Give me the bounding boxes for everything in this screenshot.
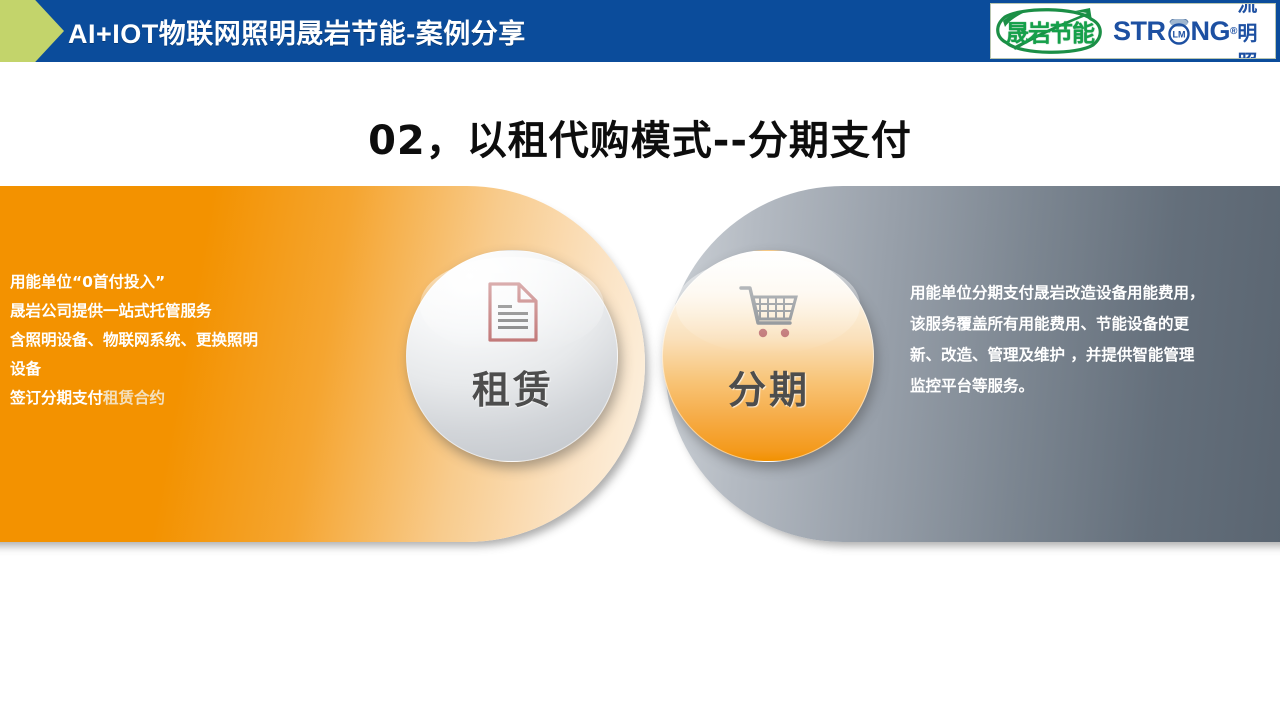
right-line-2: 新、改造、管理及维护 ，并提供智能管理 bbox=[910, 340, 1270, 371]
document-icon bbox=[486, 281, 540, 343]
logo-cn-brand: 晟岩节能 bbox=[1006, 14, 1094, 48]
header-title: AI+IOT物联网照明晟岩节能-案例分享 bbox=[68, 0, 526, 62]
logo-en-brand: STRLMNG® 强流明照明 bbox=[1113, 3, 1275, 59]
shopping-cart-icon bbox=[738, 281, 800, 343]
logo-strong-part2: NG bbox=[1191, 16, 1231, 47]
logo-cn-sub: 强流明照明 bbox=[1237, 3, 1275, 59]
right-line-1: 该服务覆盖所有用能费用、节能设备的更 bbox=[910, 309, 1270, 340]
right-panel-text: 用能单位分期支付晟岩改造设备用能费用， 该服务覆盖所有用能费用、节能设备的更 新… bbox=[910, 278, 1270, 402]
lease-bubble-inner: 租赁 bbox=[407, 251, 619, 463]
left-bullet-2: 含照明设备、物联网系统、更换照明 bbox=[10, 326, 340, 355]
left-bullet-4-white: 签订分期支付 bbox=[10, 389, 103, 407]
logo-strong-part1: STR bbox=[1113, 16, 1166, 47]
logo-o-icon: LM bbox=[1166, 19, 1191, 44]
page-title: 02，以租代购模式--分期支付 bbox=[0, 108, 1280, 166]
left-bullet-1: 晟岩公司提供一站式托管服务 bbox=[10, 297, 340, 326]
right-line-0: 用能单位分期支付晟岩改造设备用能费用， bbox=[910, 278, 1270, 309]
left-bullet-4: 签订分期支付租赁合约 bbox=[10, 384, 340, 413]
svg-text:LM: LM bbox=[1172, 29, 1185, 39]
left-bullet-0: 用能单位“0首付投入” bbox=[10, 268, 340, 297]
chevron-right-icon bbox=[0, 0, 64, 62]
installment-bubble[interactable]: 分期 bbox=[662, 250, 874, 462]
registered-mark: ® bbox=[1230, 26, 1237, 37]
logo-mark: 晟岩节能 bbox=[991, 5, 1109, 57]
left-bullet-4-tinted: 租赁合约 bbox=[103, 389, 165, 407]
installment-bubble-inner: 分期 bbox=[663, 251, 875, 463]
right-line-3: 监控平台等服务。 bbox=[910, 371, 1270, 402]
left-panel-text: 用能单位“0首付投入” 晟岩公司提供一站式托管服务 含照明设备、物联网系统、更换… bbox=[10, 268, 340, 413]
lease-bubble[interactable]: 租赁 bbox=[406, 250, 618, 462]
left-bullet-3: 设备 bbox=[10, 355, 340, 384]
lease-bubble-label: 租赁 bbox=[472, 359, 554, 414]
company-logo-panel: 晟岩节能 STRLMNG® 强流明照明 bbox=[990, 3, 1276, 59]
slide-canvas: AI+IOT物联网照明晟岩节能-案例分享 晟岩节能 STRLMNG® 强流明照明… bbox=[0, 0, 1280, 720]
header-underline bbox=[0, 62, 1280, 66]
installment-bubble-label: 分期 bbox=[728, 359, 810, 414]
